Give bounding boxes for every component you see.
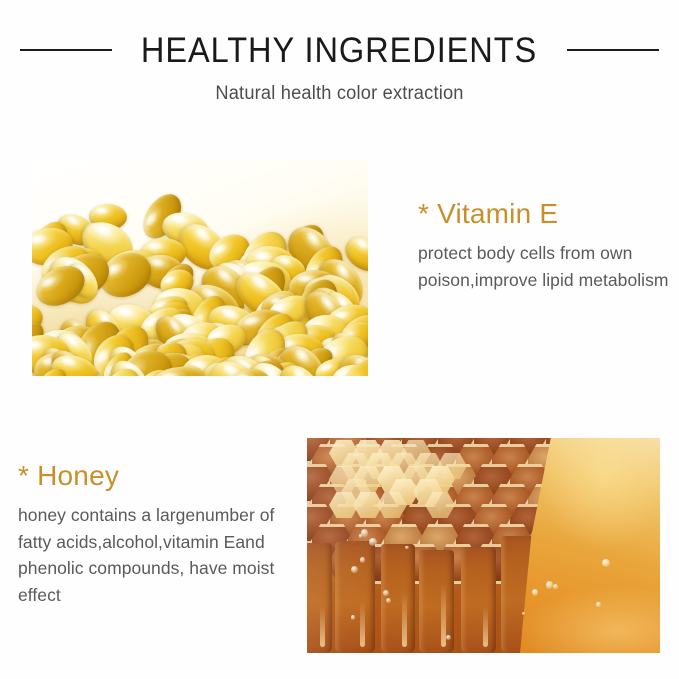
honey-bubble	[405, 546, 409, 550]
honey-bubble	[602, 559, 610, 567]
ingredient-heading-vitamin-e: *Vitamin E	[418, 200, 670, 228]
honey-bubble	[553, 584, 558, 589]
ingredient-name-vitamin-e: Vitamin E	[437, 198, 558, 229]
honey-bubble	[361, 529, 368, 536]
honey-bubble	[546, 581, 554, 589]
ingredient-heading-honey: *Honey	[18, 462, 304, 490]
bullet-asterisk-icon: *	[18, 460, 29, 491]
honey-bubble	[532, 589, 538, 595]
ingredient-block-honey: *Honey honey contains a largenumber of f…	[18, 462, 304, 608]
honey-bubble	[369, 538, 376, 545]
page-title: HEALTHY INGREDIENTS	[141, 33, 537, 68]
title-row: HEALTHY INGREDIENTS	[0, 28, 679, 72]
ingredient-description-vitamin-e: protect body cells from own poison,impro…	[418, 240, 670, 293]
honey-bubble	[360, 557, 366, 563]
honey-bubble	[386, 598, 391, 603]
honey-bubble	[351, 566, 358, 573]
ingredient-description-honey: honey contains a largenumber of fatty ac…	[18, 502, 304, 608]
title-rule-right	[567, 49, 659, 51]
page-subtitle: Natural health color extraction	[14, 83, 666, 105]
header: HEALTHY INGREDIENTS Natural health color…	[0, 28, 679, 105]
honeycomb-photo	[307, 438, 660, 653]
infographic-page: HEALTHY INGREDIENTS Natural health color…	[0, 0, 679, 679]
ingredient-block-vitamin-e: *Vitamin E protect body cells from own p…	[418, 200, 670, 293]
vitamin-e-capsules-photo	[32, 159, 368, 376]
title-rule-left	[20, 49, 112, 51]
honey-bubble	[596, 602, 601, 607]
honeycomb-gloss	[307, 438, 660, 653]
ingredient-name-honey: Honey	[37, 460, 119, 491]
bullet-asterisk-icon: *	[418, 198, 429, 229]
honey-bubble	[351, 615, 356, 620]
honey-bubble	[522, 612, 525, 615]
